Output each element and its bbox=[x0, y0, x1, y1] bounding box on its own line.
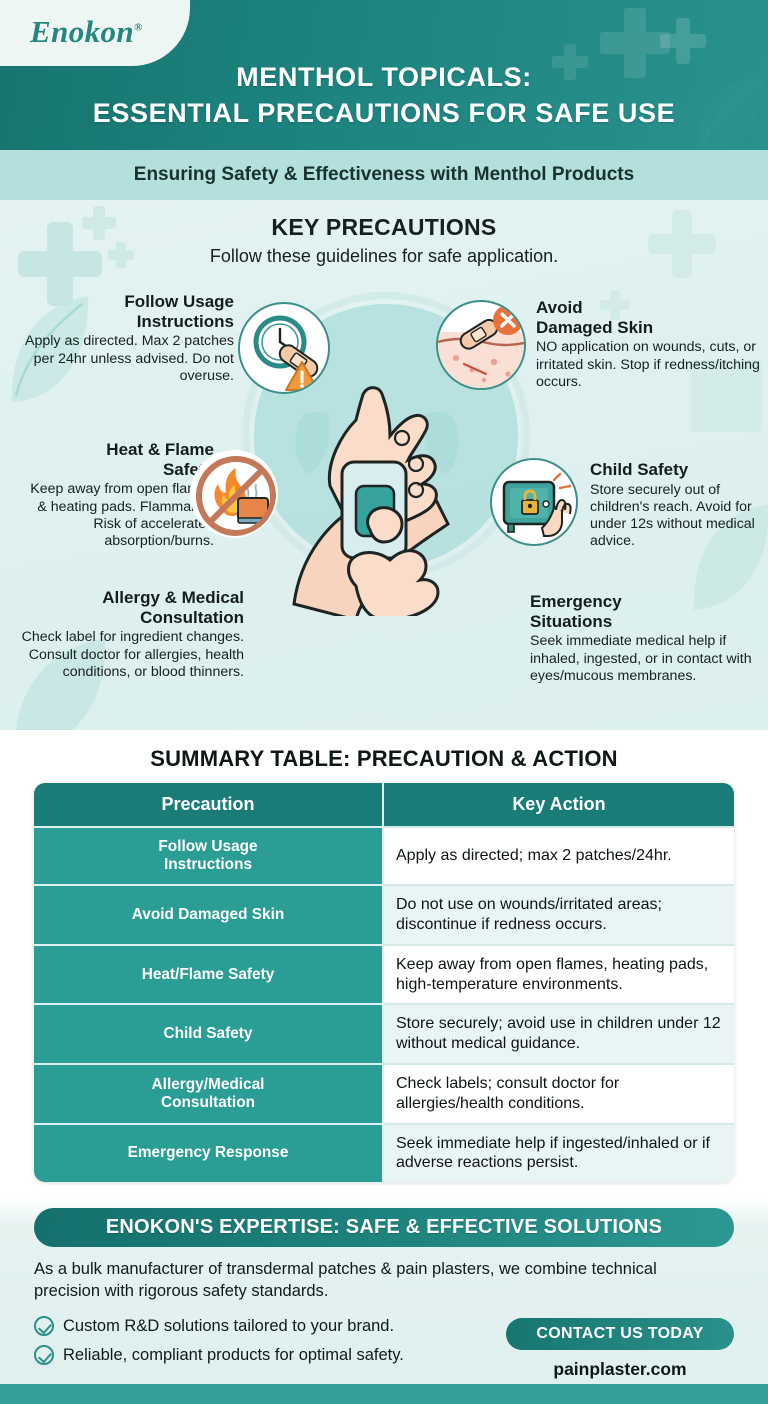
footer-bullet-list: Custom R&D solutions tailored to your br… bbox=[34, 1316, 506, 1374]
table-row: Emergency Response Seek immediate help i… bbox=[34, 1123, 734, 1183]
precaution-body: NO application on wounds, cuts, or irrit… bbox=[536, 339, 762, 391]
clock-bandage-warning-icon bbox=[238, 302, 330, 394]
cell-precaution: Child Safety bbox=[34, 1003, 384, 1063]
check-circle-icon bbox=[34, 1345, 54, 1365]
precaution-item-avoid-damaged-skin: Avoid Damaged Skin NO application on wou… bbox=[536, 298, 762, 391]
bottom-accent-strip bbox=[0, 1384, 768, 1404]
precaution-title-line-2: Damaged Skin bbox=[536, 318, 762, 338]
cell-action: Check labels; consult doctor for allergi… bbox=[384, 1063, 734, 1123]
precaution-body: Apply as directed. Max 2 patches per 24h… bbox=[24, 333, 234, 385]
summary-table: Precaution Key Action Follow Usage Instr… bbox=[34, 783, 734, 1182]
cross-icon bbox=[660, 18, 706, 64]
precaution-title-line-2: Consultation bbox=[14, 608, 244, 628]
table-row: Allergy/Medical Consultation Check label… bbox=[34, 1063, 734, 1123]
infographic-page: Enokon® MENTHOL TOPICALS: ESSENTIAL PREC… bbox=[0, 0, 768, 1376]
bullet-text: Reliable, compliant products for optimal… bbox=[63, 1346, 404, 1365]
footer-blurb: As a bulk manufacturer of transdermal pa… bbox=[34, 1259, 724, 1303]
contact-us-button[interactable]: CONTACT US TODAY bbox=[506, 1318, 734, 1350]
cell-precaution: Follow Usage Instructions bbox=[34, 826, 384, 884]
cell-action: Store securely; avoid use in children un… bbox=[384, 1003, 734, 1063]
precaution-title-line-2: Instructions bbox=[24, 312, 234, 332]
precaution-title-line-1: Avoid bbox=[536, 298, 762, 318]
precaution-item-heat-flame-safety: Heat & Flame Safety Keep away from open … bbox=[18, 440, 214, 550]
website-url[interactable]: painplaster.com bbox=[506, 1359, 734, 1380]
check-circle-icon bbox=[34, 1316, 54, 1336]
summary-table-title: SUMMARY TABLE: PRECAUTION & ACTION bbox=[34, 746, 734, 772]
brand-logo-text: Enokon bbox=[30, 14, 134, 49]
precaution-title-line-1: Emergency bbox=[530, 592, 766, 612]
precaution-item-child-safety: Child Safety Store securely out of child… bbox=[590, 460, 768, 550]
cell-precaution-line-1: Follow Usage bbox=[42, 838, 374, 856]
cell-precaution: Allergy/Medical Consultation bbox=[34, 1063, 384, 1123]
column-header-precaution: Precaution bbox=[34, 783, 384, 826]
damaged-skin-forbidden-icon bbox=[436, 300, 526, 390]
cell-precaution: Heat/Flame Safety bbox=[34, 944, 384, 1004]
bullet-text: Custom R&D solutions tailored to your br… bbox=[63, 1317, 394, 1336]
precaution-title-line-1: Allergy & Medical bbox=[14, 588, 244, 608]
table-row: Follow Usage Instructions Apply as direc… bbox=[34, 826, 734, 884]
registered-mark: ® bbox=[134, 22, 143, 34]
section-subtitle: Follow these guidelines for safe applica… bbox=[0, 241, 768, 267]
safe-lock-child-hand-icon bbox=[490, 458, 578, 546]
brand-logo[interactable]: Enokon® bbox=[30, 14, 143, 50]
column-header-key-action: Key Action bbox=[384, 783, 734, 826]
cell-precaution-line-2: Instructions bbox=[42, 856, 374, 874]
precaution-body: Store securely out of children's reach. … bbox=[590, 482, 768, 551]
precaution-title-line-2: Situations bbox=[530, 612, 766, 632]
page-title: MENTHOL TOPICALS: ESSENTIAL PRECAUTIONS … bbox=[0, 60, 768, 131]
subtitle-bar: Ensuring Safety & Effectiveness with Men… bbox=[0, 150, 768, 200]
precaution-body: Keep away from open flames & heating pad… bbox=[18, 481, 214, 550]
table-row: Heat/Flame Safety Keep away from open fl… bbox=[34, 944, 734, 1004]
expertise-banner: ENOKON'S EXPERTISE: SAFE & EFFECTIVE SOL… bbox=[34, 1208, 734, 1247]
precaution-title-line-2: Safety bbox=[18, 460, 214, 480]
cell-action: Do not use on wounds/irritated areas; di… bbox=[384, 884, 734, 944]
table-row: Avoid Damaged Skin Do not use on wounds/… bbox=[34, 884, 734, 944]
no-flame-heating-pad-icon bbox=[190, 450, 278, 538]
precaution-item-allergy-medical-consultation: Allergy & Medical Consultation Check lab… bbox=[14, 588, 244, 681]
precaution-body: Check label for ingredient changes. Cons… bbox=[14, 629, 244, 681]
summary-table-section: SUMMARY TABLE: PRECAUTION & ACTION Preca… bbox=[0, 730, 768, 1182]
cell-precaution-line-2: Consultation bbox=[42, 1094, 374, 1112]
list-item: Reliable, compliant products for optimal… bbox=[34, 1345, 506, 1365]
footer-section: ENOKON'S EXPERTISE: SAFE & EFFECTIVE SOL… bbox=[0, 1198, 768, 1404]
page-header: Enokon® MENTHOL TOPICALS: ESSENTIAL PREC… bbox=[0, 0, 768, 150]
precaution-title-line-1: Heat & Flame bbox=[18, 440, 214, 460]
subtitle-text: Ensuring Safety & Effectiveness with Men… bbox=[134, 164, 634, 186]
precaution-item-emergency-situations: Emergency Situations Seek immediate medi… bbox=[530, 592, 766, 685]
cell-precaution-line-1: Allergy/Medical bbox=[42, 1076, 374, 1094]
table-row: Child Safety Store securely; avoid use i… bbox=[34, 1003, 734, 1063]
cell-precaution: Emergency Response bbox=[34, 1123, 384, 1183]
cell-action: Keep away from open flames, heating pads… bbox=[384, 944, 734, 1004]
section-title: KEY PRECAUTIONS bbox=[0, 200, 768, 241]
table-header-row: Precaution Key Action bbox=[34, 783, 734, 826]
precaution-body: Seek immediate medical help if inhaled, … bbox=[530, 633, 766, 685]
list-item: Custom R&D solutions tailored to your br… bbox=[34, 1316, 506, 1336]
page-title-line-2: ESSENTIAL PRECAUTIONS FOR SAFE USE bbox=[0, 96, 768, 132]
cell-action: Apply as directed; max 2 patches/24hr. bbox=[384, 826, 734, 884]
precaution-item-follow-usage-instructions: Follow Usage Instructions Apply as direc… bbox=[24, 292, 234, 385]
precaution-title-line-1: Child Safety bbox=[590, 460, 768, 480]
cell-precaution: Avoid Damaged Skin bbox=[34, 884, 384, 944]
precaution-title-line-1: Follow Usage bbox=[24, 292, 234, 312]
cell-action: Seek immediate help if ingested/inhaled … bbox=[384, 1123, 734, 1183]
key-precautions-section: KEY PRECAUTIONS Follow these guidelines … bbox=[0, 200, 768, 730]
